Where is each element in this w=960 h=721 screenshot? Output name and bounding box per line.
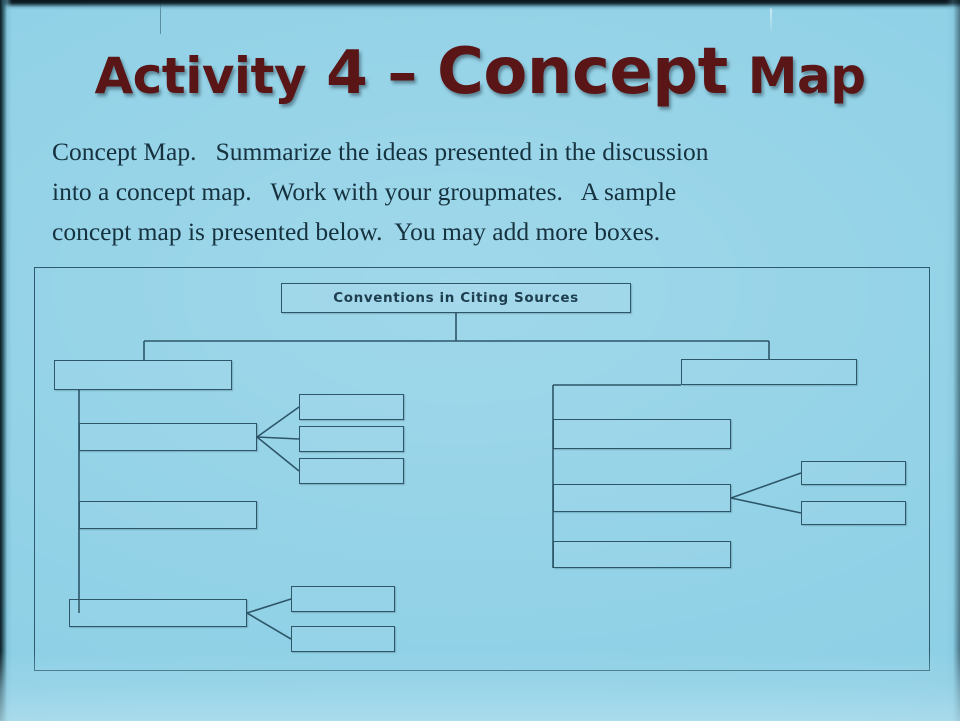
concept-node-left-1[interactable] <box>54 360 232 390</box>
concept-node-left-2b[interactable] <box>299 426 404 452</box>
title-word-dash: – <box>387 38 417 108</box>
concept-node-left-4[interactable] <box>69 599 247 627</box>
concept-node-right-2[interactable] <box>553 419 731 449</box>
connector-l4-to-l4a <box>247 599 291 613</box>
light-streak-right <box>770 8 772 34</box>
instructions-line-3: concept map is presented below. You may … <box>52 212 924 252</box>
concept-map-frame: Conventions in Citing Sources <box>34 267 930 671</box>
concept-node-left-4a[interactable] <box>291 586 395 612</box>
concept-node-left-3[interactable] <box>79 501 257 529</box>
instructions-paragraph: Concept Map. Summarize the ideas present… <box>52 132 924 252</box>
right-edge-shadow <box>946 0 960 721</box>
page-title: Activity 4 – Concept Map <box>0 40 960 104</box>
connector-l4-to-l4b <box>247 613 291 639</box>
instructions-line-1: Concept Map. Summarize the ideas present… <box>52 132 924 172</box>
concept-node-left-2c[interactable] <box>299 458 404 484</box>
left-edge-shadow <box>0 0 12 721</box>
concept-node-left-2[interactable] <box>79 423 257 451</box>
top-edge-shadow <box>0 0 960 10</box>
connector-r3-to-r3b <box>731 498 801 513</box>
film-scratch-left <box>160 0 161 34</box>
concept-map: Conventions in Citing Sources <box>35 268 931 672</box>
title-word-number: 4 <box>326 38 367 108</box>
concept-node-right-3[interactable] <box>553 484 731 512</box>
slide-canvas: Activity 4 – Concept Map Concept Map. Su… <box>0 0 960 721</box>
title-word-map: Map <box>748 47 866 105</box>
connector-l2-to-l2b <box>257 437 299 439</box>
concept-node-right-3a[interactable] <box>801 461 906 485</box>
title-word-concept: Concept <box>437 35 728 109</box>
instructions-line-2: into a concept map. Work with your group… <box>52 172 924 212</box>
concept-node-left-2a[interactable] <box>299 394 404 420</box>
title-word-activity: Activity <box>94 47 306 105</box>
concept-node-right-4[interactable] <box>553 541 731 568</box>
concept-node-root-label: Conventions in Citing Sources <box>333 290 578 306</box>
connector-l2-to-l2a <box>257 407 299 437</box>
concept-node-root[interactable]: Conventions in Citing Sources <box>281 283 631 313</box>
concept-node-right-1[interactable] <box>681 359 857 385</box>
concept-node-right-3b[interactable] <box>801 501 906 525</box>
concept-node-left-4b[interactable] <box>291 626 395 652</box>
connector-l2-to-l2c <box>257 437 299 471</box>
connector-r3-to-r3a <box>731 473 801 498</box>
